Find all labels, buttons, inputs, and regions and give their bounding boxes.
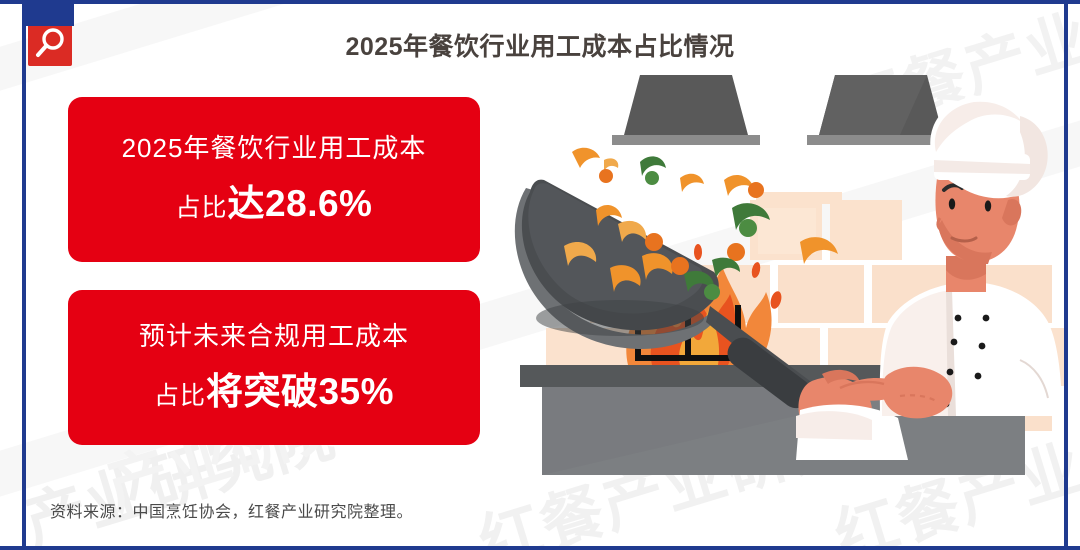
range-hood [612, 75, 955, 145]
card-value-prefix: 占比 [154, 376, 206, 412]
page-title: 2025年餐饮行业用工成本占比情况 [0, 27, 1080, 63]
frame-border-left [22, 0, 26, 550]
card-value-emphasis: 达28.6% [228, 173, 373, 227]
forecast-cost-card: 预计未来合规用工成本 占比 将突破35% [68, 290, 480, 445]
infographic-canvas: 红餐产业研究院 产业研究院 红餐产业研究院 红餐产业 产业研究院 [0, 0, 1080, 550]
card-value-row: 占比 达28.6% [176, 173, 373, 227]
frame-border-right [1064, 0, 1068, 550]
current-cost-card: 2025年餐饮行业用工成本 占比 达28.6% [68, 97, 480, 262]
frame-corner-accent [22, 0, 74, 26]
card-label: 预计未来合规用工成本 [139, 320, 409, 354]
card-value-row: 占比 将突破35% [154, 361, 394, 415]
frame-border-bottom [0, 546, 1080, 550]
source-note: 资料来源：中国烹饪协会，红餐产业研究院整理。 [50, 498, 413, 522]
card-label: 2025年餐饮行业用工成本 [122, 132, 427, 166]
frame-border-top [0, 0, 1080, 4]
card-value-emphasis: 将突破35% [206, 361, 394, 415]
card-value-prefix: 占比 [176, 188, 228, 224]
chef-stir-frying-wok-illustration [500, 60, 1068, 490]
